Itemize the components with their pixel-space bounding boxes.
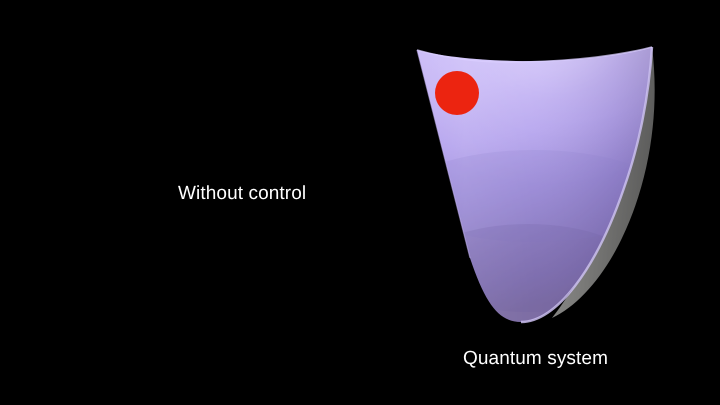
visualization-canvas: Without control Quantum system <box>0 0 720 405</box>
label-quantum-system: Quantum system <box>463 348 608 370</box>
quantum-state-ball <box>435 71 479 115</box>
label-without-control: Without control <box>178 183 306 205</box>
potential-well-scene <box>0 0 720 405</box>
